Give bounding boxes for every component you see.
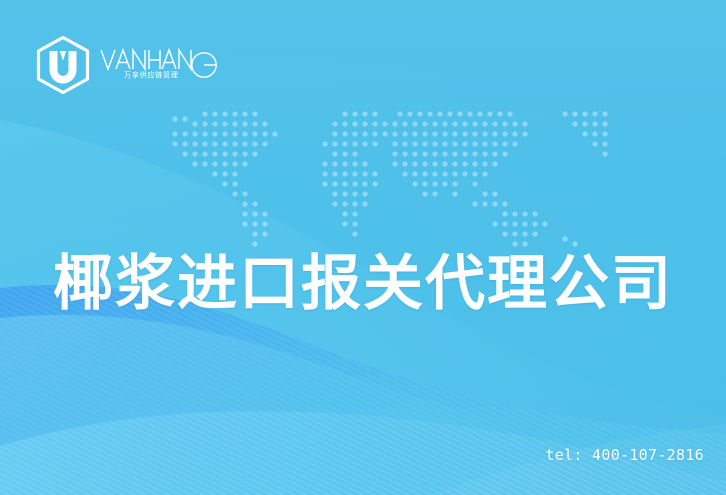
logo-subtitle-text: 万享供应链管理: [124, 71, 179, 80]
vanhang-hexagon-mark: [36, 36, 90, 94]
logo-wordmark-group: 万享供应链管理: [99, 44, 217, 86]
logo-wordmark-svg: 万享供应链管理: [99, 44, 217, 86]
contact-phone[interactable]: tel: 400-107-2816: [545, 446, 704, 464]
page-title: 椰浆进口报关代理公司: [0, 246, 726, 322]
promotional-banner: 万享供应链管理 椰浆进口报关代理公司 tel: 400-107-2816: [0, 0, 726, 495]
dotted-world-map: [150, 104, 620, 254]
brand-logo[interactable]: 万享供应链管理: [36, 36, 217, 94]
